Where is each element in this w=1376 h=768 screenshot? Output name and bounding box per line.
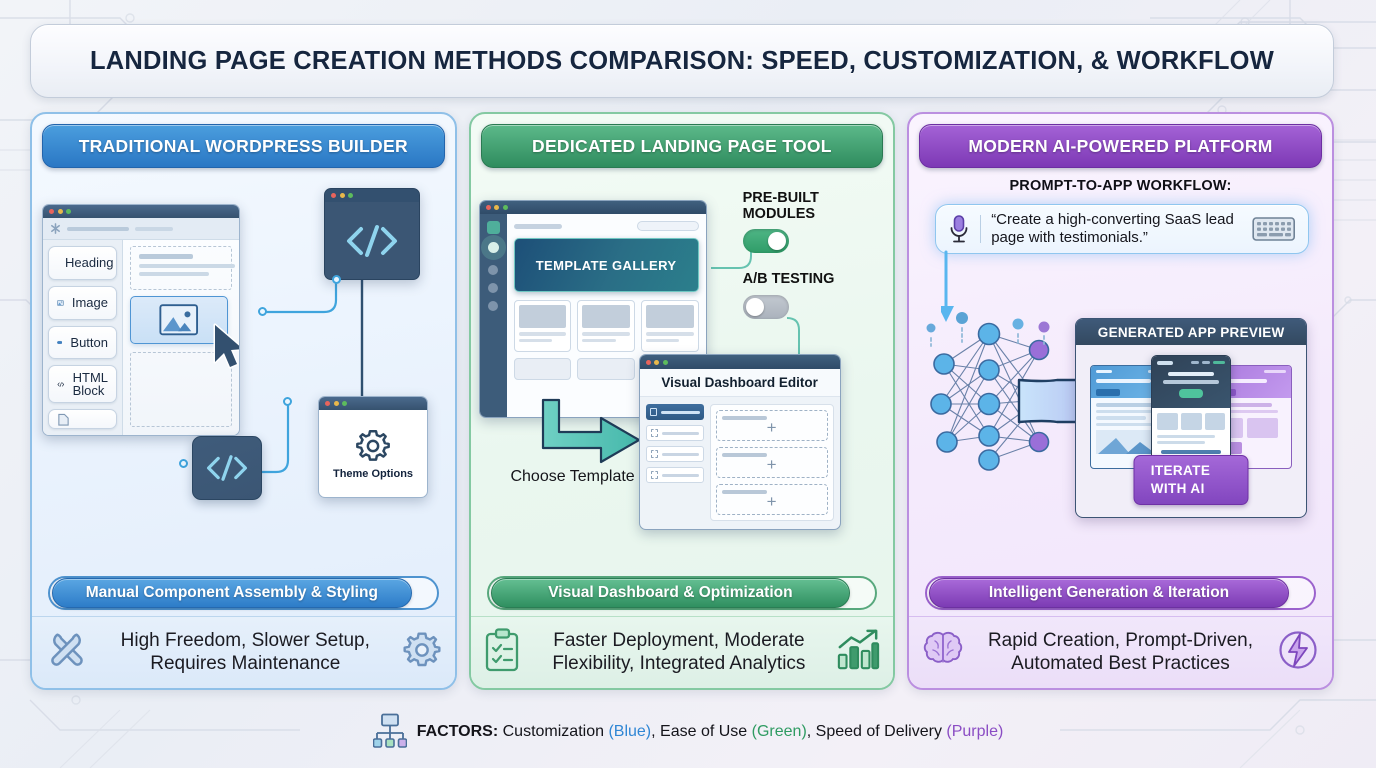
- toggle-ab-testing[interactable]: [743, 295, 789, 319]
- editor-nav-item[interactable]: [646, 467, 704, 483]
- image-icon: [57, 296, 64, 310]
- summary-dedicated: Faster Deployment, Moderate Flexibility,…: [471, 616, 894, 688]
- legend-item-label: Speed of Delivery: [816, 723, 942, 740]
- maximize-dot-icon[interactable]: [663, 360, 668, 365]
- minimize-dot-icon[interactable]: [334, 401, 339, 406]
- keyboard-icon[interactable]: [1252, 215, 1296, 243]
- palette-item-label: Button: [70, 336, 108, 350]
- summary-pill-label: Intelligent Generation & Iteration: [989, 584, 1229, 602]
- connector-node: [179, 459, 188, 468]
- legend-prefix: FACTORS:: [417, 723, 498, 740]
- clipboard-check-icon: [483, 627, 523, 678]
- toggle-group: PRE-BUILT MODULES A/B TESTING: [743, 190, 873, 319]
- template-card[interactable]: [514, 358, 572, 380]
- legend-item-color: (Purple): [946, 723, 1003, 740]
- summary-text-ai: Rapid Creation, Prompt-Driven, Automated…: [981, 630, 1260, 675]
- summary-pill-label: Manual Component Assembly & Styling: [86, 584, 378, 602]
- legend-item-label: Customization: [503, 723, 604, 740]
- palette-item-html-block[interactable]: HTML Block: [48, 365, 117, 403]
- code-glyph-wrap: [325, 202, 419, 279]
- pill-wrap-traditional: Manual Component Assembly & Styling: [48, 576, 439, 610]
- gallery-search-input[interactable]: [637, 221, 699, 231]
- prompt-input-box[interactable]: “Create a high-converting SaaS lead page…: [935, 204, 1309, 254]
- template-gallery-label: TEMPLATE GALLERY: [536, 258, 677, 273]
- maximize-dot-icon[interactable]: [348, 193, 353, 198]
- editor-title-bar: Visual Dashboard Editor: [640, 369, 840, 397]
- iterate-with-ai-button[interactable]: ITERATE WITH AI: [1134, 455, 1249, 505]
- sidebar-icon[interactable]: [488, 283, 498, 293]
- gear-icon: [401, 629, 443, 676]
- toolbar-bar: [135, 227, 173, 231]
- minimize-dot-icon[interactable]: [654, 360, 659, 365]
- editor-dropzone[interactable]: +: [716, 410, 828, 441]
- asterisk-icon: [50, 223, 61, 234]
- block-palette: T Heading Image: [43, 240, 123, 435]
- summary-pill-dedicated[interactable]: Visual Dashboard & Optimization: [491, 578, 851, 608]
- window-titlebar: [325, 189, 419, 202]
- page-title: LANDING PAGE CREATION METHODS COMPARISON…: [90, 47, 1274, 76]
- minimize-dot-icon[interactable]: [340, 193, 345, 198]
- template-gallery-banner[interactable]: TEMPLATE GALLERY: [514, 238, 699, 292]
- summary-traditional: High Freedom, Slower Setup, Requires Mai…: [32, 616, 455, 688]
- column-modern-ai-platform: MODERN AI-POWERED PLATFORM PROMPT-TO-APP…: [907, 112, 1334, 690]
- comparison-columns: TRADITIONAL WORDPRESS BUILDER: [30, 112, 1334, 690]
- maximize-dot-icon[interactable]: [342, 401, 347, 406]
- editor-nav-item[interactable]: [646, 425, 704, 441]
- plus-icon[interactable]: +: [767, 455, 777, 475]
- page-title-bar: LANDING PAGE CREATION METHODS COMPARISON…: [30, 24, 1334, 98]
- connector-node: [258, 307, 267, 316]
- column-header-dedicated-label: DEDICATED LANDING PAGE TOOL: [532, 136, 832, 157]
- close-dot-icon[interactable]: [49, 209, 54, 214]
- minimize-dot-icon[interactable]: [494, 205, 499, 210]
- template-card[interactable]: [577, 300, 635, 352]
- column-traditional-illustration: T Heading Image: [32, 176, 455, 588]
- editor-nav-item[interactable]: [646, 446, 704, 462]
- prompt-text: “Create a high-converting SaaS lead page…: [991, 211, 1242, 246]
- column-header-ai: MODERN AI-POWERED PLATFORM: [919, 124, 1322, 168]
- close-dot-icon[interactable]: [325, 401, 330, 406]
- sidebar-icon[interactable]: [488, 265, 498, 275]
- wordpress-builder-window[interactable]: T Heading Image: [42, 204, 240, 436]
- palette-item-label: Heading: [65, 256, 113, 270]
- pill-wrap-ai: Intelligent Generation & Iteration: [925, 576, 1316, 610]
- toggle-prebuilt-modules[interactable]: [743, 229, 789, 253]
- editor-body: + + +: [640, 397, 840, 528]
- prompt-workflow-label: PROMPT-TO-APP WORKFLOW:: [909, 178, 1332, 194]
- builder-canvas[interactable]: [123, 240, 239, 435]
- minimize-dot-icon[interactable]: [58, 209, 63, 214]
- palette-item-heading[interactable]: T Heading: [48, 246, 117, 280]
- template-card[interactable]: [641, 300, 699, 352]
- palette-item-button[interactable]: Button: [48, 326, 117, 360]
- code-icon: [204, 452, 250, 484]
- summary-pill-label: Visual Dashboard & Optimization: [548, 584, 792, 602]
- brain-icon: [921, 628, 965, 677]
- palette-item-more[interactable]: [48, 409, 117, 429]
- column-header-traditional-label: TRADITIONAL WORDPRESS BUILDER: [79, 136, 408, 157]
- window-titlebar: [43, 205, 239, 218]
- editor-nav-item-active[interactable]: [646, 404, 704, 420]
- plus-icon[interactable]: +: [767, 418, 777, 438]
- editor-sidebar: [646, 404, 704, 521]
- window-titlebar: [319, 397, 427, 410]
- summary-ai: Rapid Creation, Prompt-Driven, Automated…: [909, 616, 1332, 688]
- editor-dropzone[interactable]: +: [716, 484, 828, 515]
- theme-options-window[interactable]: Theme Options: [318, 396, 428, 498]
- palette-item-label: HTML Block: [73, 371, 108, 398]
- plus-icon[interactable]: +: [767, 492, 777, 512]
- editor-canvas[interactable]: + + +: [710, 404, 834, 521]
- generated-app-preview-panel[interactable]: GENERATED APP PREVIEW: [1075, 318, 1307, 518]
- close-dot-icon[interactable]: [646, 360, 651, 365]
- column-header-dedicated: DEDICATED LANDING PAGE TOOL: [481, 124, 884, 168]
- microphone-icon[interactable]: [948, 214, 970, 244]
- button-icon: [57, 337, 62, 348]
- image-icon: [159, 304, 199, 336]
- sidebar-icon-logo[interactable]: [487, 221, 500, 234]
- gear-icon: [354, 427, 392, 465]
- visual-dashboard-editor-window[interactable]: Visual Dashboard Editor: [639, 354, 841, 530]
- canvas-dropzone-text[interactable]: [130, 246, 232, 290]
- gallery-sidebar: [480, 214, 507, 417]
- sidebar-icon[interactable]: [488, 301, 498, 311]
- sitemap-icon: [373, 713, 407, 751]
- sidebar-icon-active[interactable]: [488, 242, 499, 253]
- preview-titlebar: GENERATED APP PREVIEW: [1076, 319, 1306, 345]
- legend-text: FACTORS: Customization (Blue), Ease of U…: [417, 723, 1004, 741]
- window-titlebar: [480, 201, 706, 214]
- column-header-traditional: TRADITIONAL WORDPRESS BUILDER: [42, 124, 445, 168]
- theme-options-body: Theme Options: [319, 410, 427, 497]
- column-dedicated-illustration: TEMPLATE GALLERY: [471, 176, 894, 588]
- column-dedicated-landing-tool: DEDICATED LANDING PAGE TOOL: [469, 112, 896, 690]
- summary-pill-ai[interactable]: Intelligent Generation & Iteration: [929, 578, 1289, 608]
- connector-node: [332, 275, 341, 284]
- gallery-topbar: [514, 221, 699, 231]
- summary-pill-outer: Manual Component Assembly & Styling: [48, 576, 439, 610]
- summary-pill-traditional[interactable]: Manual Component Assembly & Styling: [52, 578, 412, 608]
- mouse-pointer-icon: [209, 322, 240, 372]
- code-snippet-box[interactable]: [192, 436, 262, 500]
- window-titlebar: [640, 355, 840, 369]
- analytics-chart-icon: [835, 628, 881, 677]
- iterate-with-ai-label: ITERATE WITH AI: [1151, 463, 1211, 496]
- palette-item-image[interactable]: Image: [48, 286, 117, 320]
- document-icon: [57, 413, 70, 426]
- preview-title: GENERATED APP PREVIEW: [1098, 325, 1285, 340]
- pill-wrap-dedicated: Visual Dashboard & Optimization: [487, 576, 878, 610]
- builder-toolbar: [43, 218, 239, 240]
- maximize-dot-icon[interactable]: [503, 205, 508, 210]
- close-dot-icon[interactable]: [486, 205, 491, 210]
- close-dot-icon[interactable]: [331, 193, 336, 198]
- summary-pill-outer: Intelligent Generation & Iteration: [925, 576, 1316, 610]
- code-icon: [57, 378, 65, 391]
- summary-text-traditional: High Freedom, Slower Setup, Requires Mai…: [106, 630, 385, 675]
- column-traditional-wordpress: TRADITIONAL WORDPRESS BUILDER: [30, 112, 457, 690]
- connector-node: [283, 397, 292, 406]
- legend-bar: FACTORS: Customization (Blue), Ease of U…: [0, 708, 1376, 756]
- palette-item-label: Image: [72, 296, 108, 310]
- wrench-screwdriver-icon: [44, 628, 90, 677]
- legend-item-color: (Blue): [608, 723, 651, 740]
- template-card[interactable]: [577, 358, 635, 380]
- template-card[interactable]: [514, 300, 572, 352]
- legend-item-label: Ease of Use: [660, 723, 747, 740]
- lightning-bolt-icon: [1276, 628, 1320, 677]
- code-editor-window[interactable]: [324, 188, 420, 280]
- summary-pill-outer: Visual Dashboard & Optimization: [487, 576, 878, 610]
- editor-title: Visual Dashboard Editor: [661, 375, 818, 390]
- toolbar-bar: [67, 227, 129, 231]
- column-ai-illustration: PROMPT-TO-APP WORKFLOW: “Create a high-c…: [909, 176, 1332, 588]
- column-header-ai-label: MODERN AI-POWERED PLATFORM: [968, 136, 1272, 157]
- toggle-label-ab-testing: A/B TESTING: [743, 271, 873, 287]
- maximize-dot-icon[interactable]: [66, 209, 71, 214]
- legend-item-color: (Green): [752, 723, 807, 740]
- theme-options-label: Theme Options: [333, 468, 413, 480]
- summary-text-dedicated: Faster Deployment, Moderate Flexibility,…: [539, 630, 820, 675]
- code-icon: [344, 221, 400, 261]
- editor-dropzone[interactable]: +: [716, 447, 828, 478]
- toggle-label-prebuilt: PRE-BUILT MODULES: [743, 190, 873, 222]
